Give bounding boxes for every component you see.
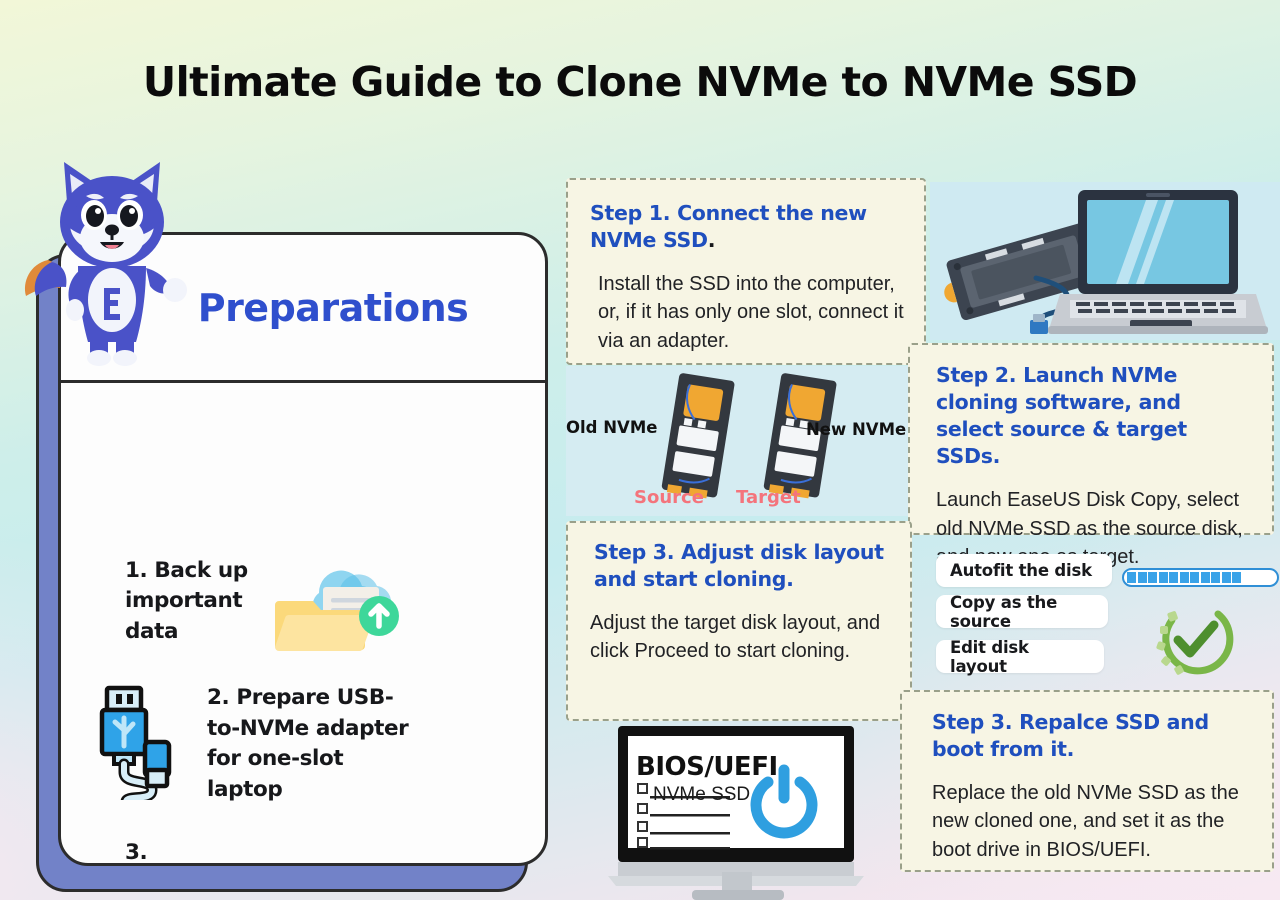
step-1-body: Install the SSD into the computer, or, i… — [590, 270, 906, 355]
preparations-list: 1. Back up important data — [61, 383, 545, 866]
check-circle-icon — [1150, 600, 1236, 680]
progress-segment — [1190, 572, 1199, 583]
progress-bar — [1122, 568, 1279, 587]
step-1-heading: Step 1. Connect the new NVMe SSD. — [590, 200, 906, 254]
progress-segment — [1232, 572, 1241, 583]
list-item: 1. Back up important data — [61, 543, 545, 660]
progress-segment — [1169, 572, 1178, 583]
prep-item-label: 3. Downlaod reliable NVMe cloning softwa… — [61, 838, 256, 866]
option-edit-disk-layout[interactable]: Edit disk layout — [936, 640, 1104, 673]
page-title: Ultimate Guide to Clone NVMe to NVMe SSD — [0, 58, 1280, 106]
new-nvme-label: New NVMe — [806, 420, 906, 439]
progress-segment — [1127, 572, 1136, 583]
infographic-canvas: Ultimate Guide to Clone NVMe to NVMe SSD… — [0, 0, 1280, 900]
bios-screen-title: BIOS/UEFI — [636, 752, 778, 782]
progress-segment — [1211, 572, 1220, 583]
option-copy-as-the-source[interactable]: Copy as the source — [936, 595, 1108, 628]
step-2-heading: Step 2. Launch NVMe cloning software, an… — [936, 362, 1252, 470]
progress-segment — [1201, 572, 1210, 583]
step-3-heading: Step 3. Adjust disk layout and start clo… — [590, 539, 894, 593]
progress-segment — [1138, 572, 1147, 583]
step-4-body: Replace the old NVMe SSD as the new clon… — [932, 779, 1254, 864]
step-4-heading: Step 3. Repalce SSD and boot from it. — [932, 709, 1254, 763]
option-autofit-the-disk[interactable]: Autofit the disk — [936, 554, 1112, 587]
target-label: Target — [736, 487, 801, 508]
list-item: 3. Downlaod reliable NVMe cloning softwa… — [61, 838, 545, 866]
step-4-panel: Step 3. Repalce SSD and boot from it. Re… — [900, 690, 1274, 872]
progress-segment — [1180, 572, 1189, 583]
prep-item-label: 2. Prepare USB-to-NVMe adapter for one-s… — [207, 683, 422, 805]
step-1-panel: Step 1. Connect the new NVMe SSD. Instal… — [566, 178, 926, 365]
progress-segment — [1159, 572, 1168, 583]
step-3-body: Adjust the target disk layout, and click… — [590, 609, 894, 666]
progress-segment — [1148, 572, 1157, 583]
laptop-with-nvme-adapter-illustration — [930, 182, 1280, 340]
bios-first-entry: NVMe SSD — [653, 784, 750, 806]
source-label: Source — [634, 487, 704, 508]
usb-cable-icon — [89, 684, 181, 805]
prep-item-label: 1. Back up important data — [61, 556, 261, 648]
step-2-panel: Step 2. Launch NVMe cloning software, an… — [908, 343, 1274, 535]
old-nvme-label: Old NVMe — [566, 418, 657, 437]
progress-segment — [1222, 572, 1231, 583]
desktop-monitor-illustration: BIOS/UEFI NVMe SSD — [600, 722, 890, 900]
fox-mascot — [12, 142, 212, 367]
list-item: 2. Prepare USB-to-NVMe adapter for one-s… — [61, 683, 545, 805]
cloud-folder-upload-icon — [273, 543, 403, 660]
step-3-panel: Step 3. Adjust disk layout and start clo… — [566, 521, 912, 721]
